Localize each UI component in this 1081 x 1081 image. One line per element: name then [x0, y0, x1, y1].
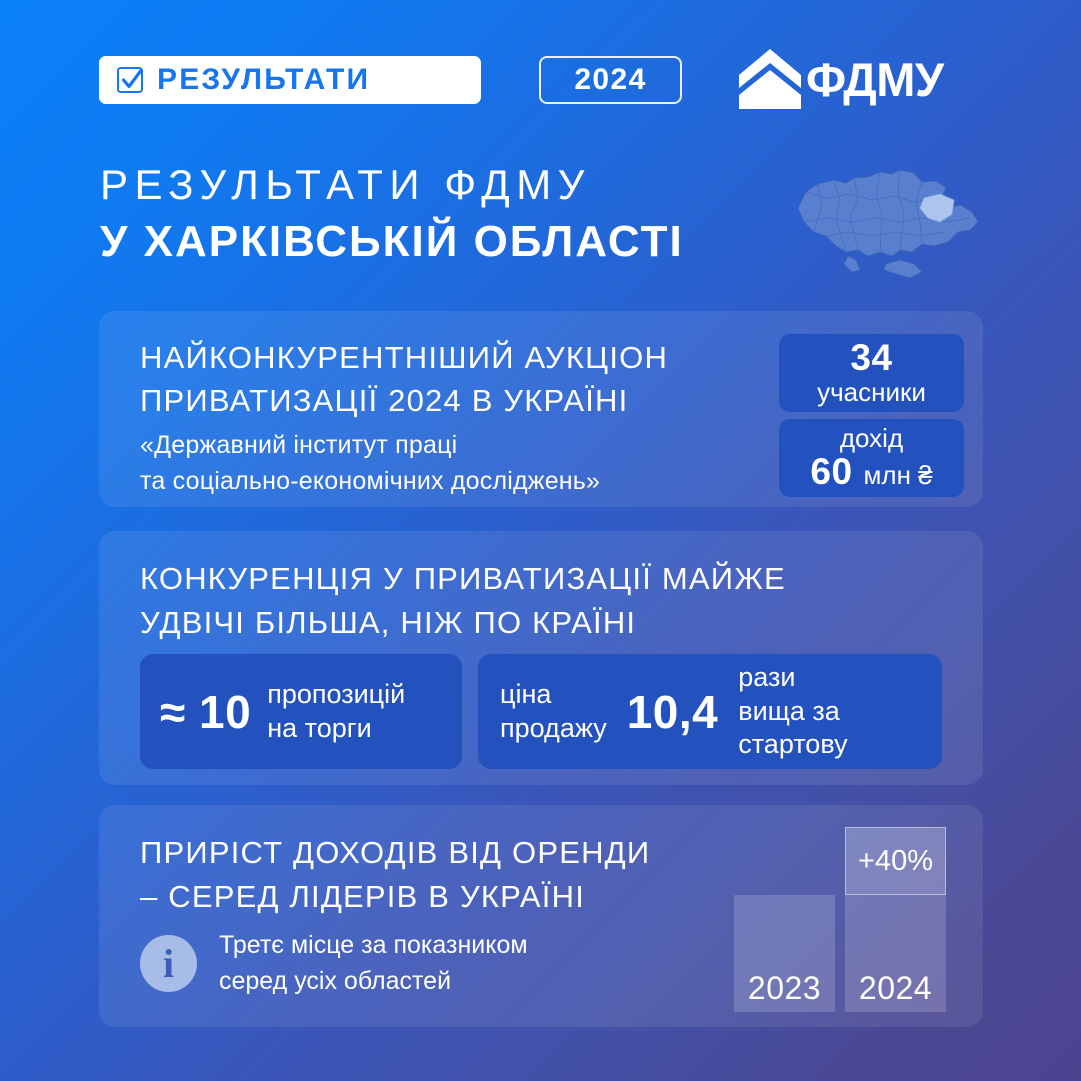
infographic-canvas: РЕЗУЛЬТАТИ 2024 ФДМУ РЕЗУЛЬТАТИ ФДМУ У Х… [0, 0, 1081, 1081]
stat-price-prefix-line1: ціна [500, 678, 607, 712]
card1-heading-line1: НАЙКОНКУРЕНТНІШИЙ АУКЦІОН [140, 337, 668, 380]
stat-income-value: 60 [810, 453, 852, 492]
checkbox-checked-icon [117, 67, 143, 93]
ukraine-map-icon [788, 160, 1018, 285]
card3-note-line2: серед усіх областей [219, 964, 528, 1000]
stat-offers-text: пропозицій на торги [267, 678, 405, 746]
fdmu-logo-text: ФДМУ [806, 56, 944, 103]
header: РЕЗУЛЬТАТИ 2024 ФДМУ [0, 0, 1081, 150]
stat-price-suffix: рази вища за стартову [738, 661, 847, 762]
stat-price-prefix: ціна продажу [500, 678, 607, 746]
page-title-line2: У ХАРКІВСЬКІЙ ОБЛАСТІ [100, 214, 800, 269]
stat-price-suffix-line1: рази [738, 661, 847, 695]
page-title-line1: РЕЗУЛЬТАТИ ФДМУ [100, 158, 800, 212]
year-badge: 2024 [539, 56, 682, 104]
stat-participants-label: учасники [817, 378, 926, 407]
card3-note: i Третє місце за показником серед усіх о… [140, 928, 528, 999]
card2-heading-line1: КОНКУРЕНЦІЯ У ПРИВАТИЗАЦІЇ МАЙЖЕ [140, 557, 786, 601]
stat-offers-per-auction: ≈ 10 пропозицій на торги [140, 654, 462, 769]
card3-note-text: Третє місце за показником серед усіх обл… [219, 928, 528, 999]
bar-2023: 2023 [734, 895, 835, 1012]
card1-heading-line2: ПРИВАТИЗАЦІЇ 2024 В УКРАЇНІ [140, 380, 668, 423]
stat-offers-value: ≈ 10 [160, 689, 251, 735]
card-competition: КОНКУРЕНЦІЯ У ПРИВАТИЗАЦІЇ МАЙЖЕ УДВІЧІ … [99, 531, 983, 785]
stat-price-prefix-line2: продажу [500, 712, 607, 746]
card1-subtitle: «Державний інститут праці та соціально-е… [140, 428, 600, 499]
chevron-roof-icon [738, 48, 802, 110]
results-badge: РЕЗУЛЬТАТИ [99, 56, 481, 104]
stat-sale-price-multiplier: ціна продажу 10,4 рази вища за стартову [478, 654, 942, 769]
card2-heading: КОНКУРЕНЦІЯ У ПРИВАТИЗАЦІЇ МАЙЖЕ УДВІЧІ … [140, 557, 786, 645]
card1-subtitle-line1: «Державний інститут праці [140, 428, 600, 464]
card3-heading-line2: – СЕРЕД ЛІДЕРІВ В УКРАЇНІ [140, 875, 650, 919]
stat-participants-value: 34 [850, 339, 892, 378]
card-most-competitive-auction: НАЙКОНКУРЕНТНІШИЙ АУКЦІОН ПРИВАТИЗАЦІЇ 2… [99, 311, 983, 507]
card1-heading: НАЙКОНКУРЕНТНІШИЙ АУКЦІОН ПРИВАТИЗАЦІЇ 2… [140, 337, 668, 423]
stat-income-label: дохід [840, 424, 903, 453]
stat-income-unit: млн ₴ [864, 461, 933, 490]
check-mark-icon [122, 69, 142, 91]
card3-heading-line1: ПРИРІСТ ДОХОДІВ ВІД ОРЕНДИ [140, 831, 650, 875]
card2-heading-line2: УДВІЧІ БІЛЬША, НІЖ ПО КРАЇНІ [140, 601, 786, 645]
page-title: РЕЗУЛЬТАТИ ФДМУ У ХАРКІВСЬКІЙ ОБЛАСТІ [100, 158, 800, 269]
stat-participants: 34 учасники [779, 334, 964, 412]
rent-income-bar-chart: 2023 2024 +40% [715, 827, 965, 1012]
results-badge-label: РЕЗУЛЬТАТИ [157, 65, 370, 95]
stat-price-suffix-line2: вища за [738, 695, 847, 729]
info-glyph: i [163, 944, 174, 984]
stat-price-value: 10,4 [627, 689, 719, 735]
bar-2024-label: 2024 [859, 972, 932, 1012]
stat-offers-text-line1: пропозицій [267, 678, 405, 712]
growth-annotation-label: +40% [858, 847, 933, 876]
stat-income-value-row: 60 млн ₴ [810, 453, 932, 492]
card-rent-income-growth: ПРИРІСТ ДОХОДІВ ВІД ОРЕНДИ – СЕРЕД ЛІДЕР… [99, 805, 983, 1027]
year-badge-label: 2024 [574, 65, 646, 95]
fdmu-logo: ФДМУ [738, 48, 944, 110]
stat-income: дохід 60 млн ₴ [779, 419, 964, 497]
card3-heading: ПРИРІСТ ДОХОДІВ ВІД ОРЕНДИ – СЕРЕД ЛІДЕР… [140, 831, 650, 919]
stat-offers-text-line2: на торги [267, 712, 405, 746]
card1-subtitle-line2: та соціально-економічних досліджень» [140, 464, 600, 500]
info-circle-icon: i [140, 935, 197, 992]
stat-price-suffix-line3: стартову [738, 728, 847, 762]
bar-2023-label: 2023 [748, 972, 821, 1012]
growth-annotation: +40% [845, 827, 946, 895]
card3-note-line1: Третє місце за показником [219, 928, 528, 964]
